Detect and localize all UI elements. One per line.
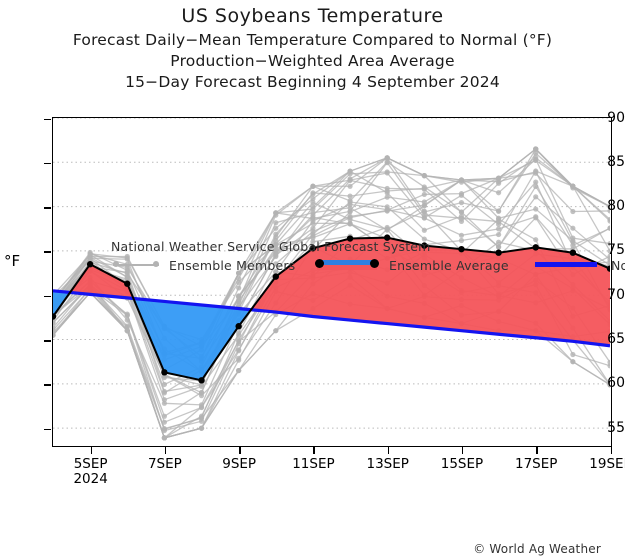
ensemble-member-marker xyxy=(273,226,278,231)
ensemble-member-marker xyxy=(422,199,427,204)
y-tick-label: 60 xyxy=(581,375,625,391)
x-axis-year-label: 2024 xyxy=(73,471,107,487)
y-tick-mark xyxy=(44,384,51,386)
x-tick-label: 15SEP xyxy=(441,456,483,472)
ensemble-average-marker xyxy=(198,377,204,383)
ensemble-member-marker xyxy=(533,146,538,151)
ensemble-member-marker xyxy=(162,389,167,394)
ensemble-member-marker xyxy=(422,184,427,189)
ensemble-member-marker xyxy=(496,226,501,231)
ensemble-average-red-half-icon xyxy=(317,265,377,270)
legend-label-ensemble-members: Ensemble Members xyxy=(169,258,295,273)
ensemble-member-marker xyxy=(347,184,352,189)
x-tick-mark xyxy=(536,447,538,454)
ensemble-member-marker xyxy=(236,280,241,285)
ensemble-average-bar-icon xyxy=(317,260,377,270)
ensemble-member-marker xyxy=(347,209,352,214)
ensemble-member-marker xyxy=(607,226,610,231)
ensemble-member-marker xyxy=(570,209,575,214)
chart-legend: National Weather Service Global Forecast… xyxy=(111,239,625,273)
legend-label-ensemble-average: Ensemble Average xyxy=(389,258,509,273)
ensemble-average-dot-icon xyxy=(315,259,324,268)
ensemble-member-marker xyxy=(496,190,501,195)
ensemble-member-marker xyxy=(570,359,575,364)
ensemble-member-marker xyxy=(533,184,538,189)
ensemble-member-marker xyxy=(162,401,167,406)
chart-subtitle-3: 15−Day Forecast Beginning 4 September 20… xyxy=(0,73,625,91)
ensemble-member-marker xyxy=(533,215,538,220)
x-tick-label: 13SEP xyxy=(366,456,408,472)
ensemble-average-marker xyxy=(161,369,167,375)
ensemble-member-marker xyxy=(310,213,315,218)
chart-subtitle-2: Production−Weighted Area Average xyxy=(0,52,625,70)
ensemble-member-marker xyxy=(459,177,464,182)
ensemble-member-marker xyxy=(422,209,427,214)
legend-item-ensemble-members: Ensemble Members xyxy=(113,257,313,273)
ensemble-member-marker xyxy=(125,328,130,333)
ensemble-member-marker xyxy=(459,233,464,238)
x-tick-mark xyxy=(388,447,390,454)
ensemble-member-marker xyxy=(385,169,390,174)
x-tick-mark xyxy=(239,447,241,454)
ensemble-member-marker xyxy=(125,274,130,279)
ensemble-member-marker xyxy=(236,298,241,303)
ensemble-average-marker xyxy=(235,323,241,329)
ensemble-member-marker xyxy=(310,200,315,205)
ensemble-member-marker xyxy=(125,313,130,318)
ensemble-member-marker xyxy=(162,428,167,433)
ensemble-member-marker xyxy=(273,328,278,333)
copyright-notice: © World Ag Weather xyxy=(473,542,601,556)
legend-label-normal: Normal xyxy=(611,258,625,273)
x-tick-mark xyxy=(313,447,315,454)
ensemble-member-marker xyxy=(236,368,241,373)
ensemble-member-marker xyxy=(347,178,352,183)
ensemble-member-marker xyxy=(347,194,352,199)
ensemble-member-marker xyxy=(199,426,204,431)
ensemble-member-marker xyxy=(496,209,501,214)
ensemble-member-marker xyxy=(385,159,390,164)
x-tick-mark xyxy=(165,447,167,454)
y-tick-label: 80 xyxy=(581,198,625,214)
ensemble-member-marker xyxy=(273,213,278,218)
x-tick-label: 7SEP xyxy=(148,456,182,472)
ensemble-member-marker xyxy=(533,168,538,173)
ensemble-member-marker xyxy=(533,155,538,160)
y-tick-label: 75 xyxy=(581,242,625,258)
chart-page: US Soybeans Temperature Forecast Daily−M… xyxy=(0,0,625,486)
ensemble-member-marker xyxy=(199,402,204,407)
ensemble-member-marker xyxy=(88,251,93,256)
legend-item-ensemble-average: Ensemble Average xyxy=(317,257,527,273)
plot-area: © World Ag Weather National Weather Serv… xyxy=(52,117,612,447)
y-tick-mark xyxy=(44,163,51,165)
ensemble-member-marker xyxy=(607,360,610,365)
y-tick-mark xyxy=(44,429,51,431)
ensemble-member-marker xyxy=(310,206,315,211)
ensemble-member-marker xyxy=(347,171,352,176)
x-tick-label: 19SEP xyxy=(589,456,625,472)
y-tick-label: 55 xyxy=(581,420,625,436)
y-tick-label: 85 xyxy=(581,154,625,170)
normal-line-icon xyxy=(535,262,597,267)
ensemble-member-marker xyxy=(496,217,501,222)
ensemble-member-dot-icon xyxy=(113,261,119,267)
ensemble-member-marker xyxy=(496,176,501,181)
ensemble-member-marker xyxy=(385,195,390,200)
ensemble-member-marker xyxy=(310,190,315,195)
x-tick-mark xyxy=(462,447,464,454)
ensemble-member-marker xyxy=(570,184,575,189)
ensemble-member-dot-icon xyxy=(153,261,159,267)
ensemble-member-marker xyxy=(385,207,390,212)
ensemble-member-marker xyxy=(385,226,390,231)
ensemble-member-marker xyxy=(570,352,575,357)
ensemble-member-marker xyxy=(570,226,575,231)
ensemble-member-marker xyxy=(459,209,464,214)
ensemble-member-marker xyxy=(236,341,241,346)
y-tick-label: 70 xyxy=(581,287,625,303)
ensemble-member-marker xyxy=(236,356,241,361)
ensemble-member-marker xyxy=(199,393,204,398)
ensemble-member-marker xyxy=(422,173,427,178)
y-tick-label: 65 xyxy=(581,331,625,347)
legend-item-normal: Normal xyxy=(535,257,625,273)
x-tick-mark xyxy=(611,447,613,454)
chart-canvas xyxy=(53,118,610,445)
ensemble-member-marker xyxy=(422,228,427,233)
ensemble-member-marker xyxy=(422,192,427,197)
ensemble-member-marker xyxy=(422,215,427,220)
ensemble-member-marker xyxy=(347,217,352,222)
chart-subtitle-1: Forecast Daily−Mean Temperature Compared… xyxy=(0,31,625,49)
ensemble-average-marker xyxy=(124,281,130,287)
ensemble-member-marker xyxy=(496,232,501,237)
x-tick-label: 9SEP xyxy=(222,456,256,472)
ensemble-member-marker xyxy=(310,184,315,189)
ensemble-member-marker xyxy=(310,218,315,223)
ensemble-member-marker xyxy=(236,330,241,335)
y-tick-label: 90 xyxy=(581,110,625,126)
y-tick-mark xyxy=(44,251,51,253)
ensemble-member-marker xyxy=(199,419,204,424)
ensemble-member-marker xyxy=(459,193,464,198)
ensemble-member-marker xyxy=(162,435,167,440)
ensemble-member-marker xyxy=(347,198,352,203)
page-title: US Soybeans Temperature xyxy=(0,5,625,27)
ensemble-average-marker xyxy=(87,261,93,267)
x-tick-label: 17SEP xyxy=(515,456,557,472)
y-axis-label: °F xyxy=(4,252,20,270)
y-tick-mark xyxy=(44,207,51,209)
legend-source-title: National Weather Service Global Forecast… xyxy=(111,239,431,254)
ensemble-member-marker xyxy=(496,181,501,186)
x-tick-mark xyxy=(91,447,93,454)
x-tick-label: 11SEP xyxy=(292,456,334,472)
ensemble-member-marker xyxy=(533,194,538,199)
ensemble-member-marker xyxy=(459,200,464,205)
x-tick-label: 5SEP xyxy=(74,456,108,472)
ensemble-member-marker xyxy=(533,206,538,211)
ensemble-member-marker xyxy=(310,226,315,231)
y-tick-mark xyxy=(44,296,51,298)
y-tick-mark xyxy=(44,340,51,342)
y-tick-mark xyxy=(44,119,51,121)
ensemble-average-dot-icon xyxy=(370,259,379,268)
ensemble-member-marker xyxy=(459,219,464,224)
ensemble-average-marker xyxy=(273,273,279,279)
ensemble-member-marker xyxy=(385,186,390,191)
